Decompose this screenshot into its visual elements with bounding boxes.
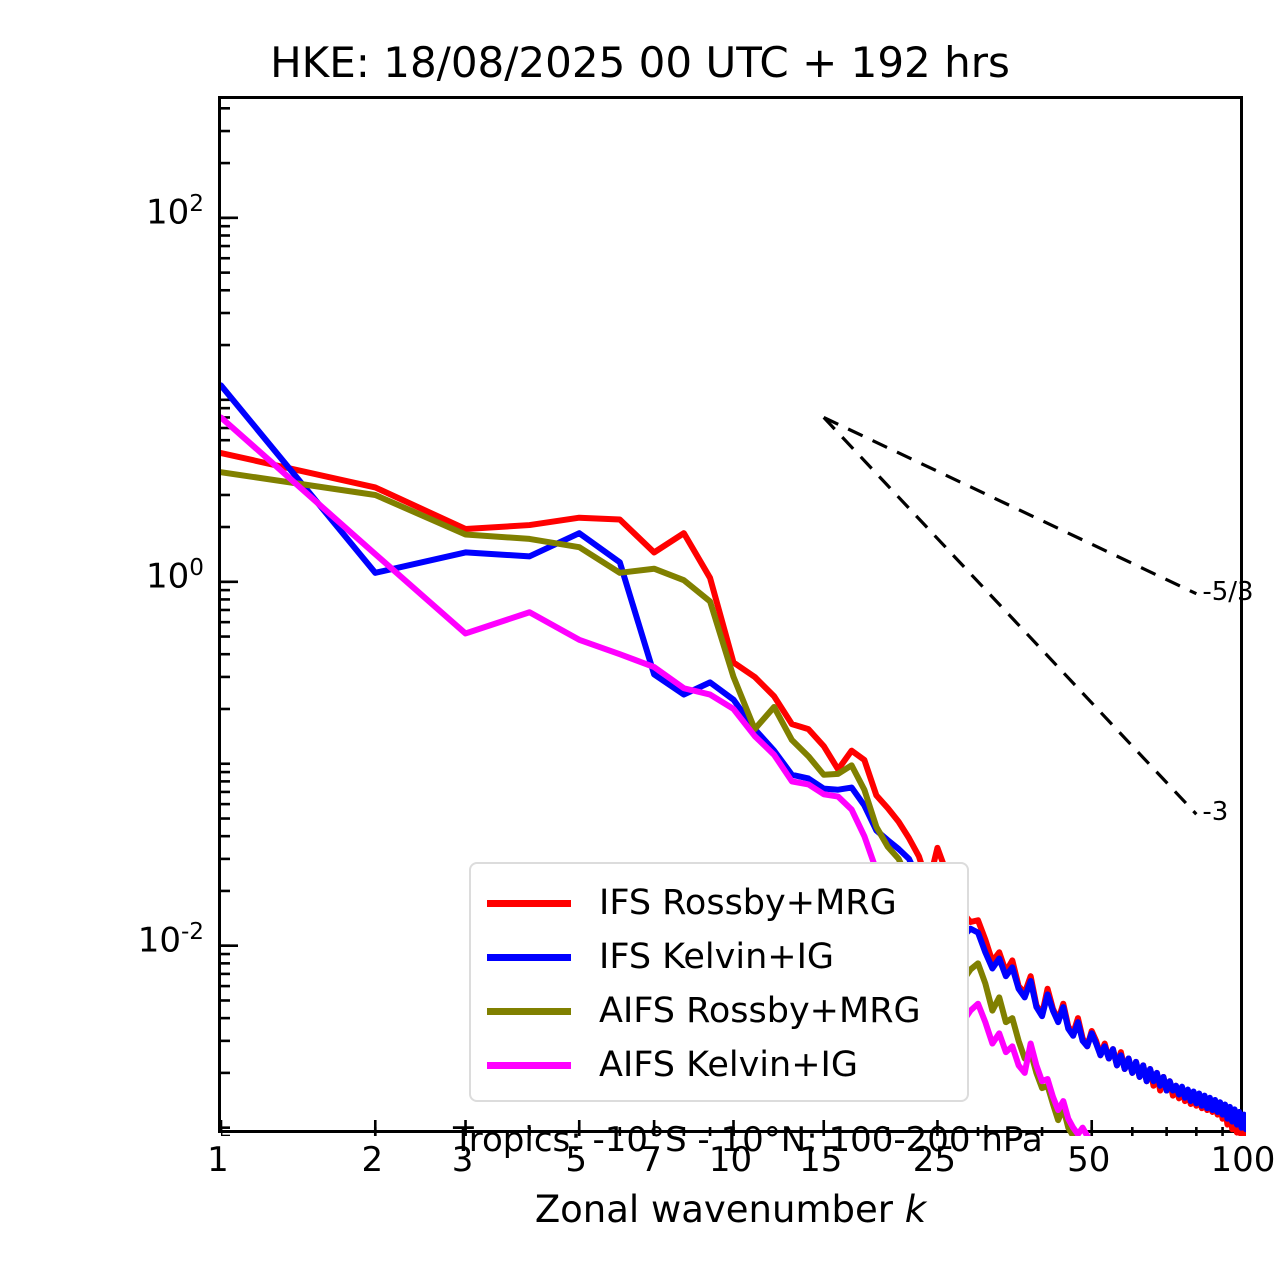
x-tick-label: 3 [452, 1140, 474, 1180]
legend-item-3[interactable]: AIFS Kelvin+IG [471, 1038, 967, 1092]
y-tick-label: 102 [146, 191, 204, 232]
legend-item-label: AIFS Rossby+MRG [599, 991, 921, 1031]
legend-color-swatch [487, 1062, 571, 1069]
x-tick-label: 5 [565, 1140, 587, 1180]
x-axis-tick-labels: 1235710152550100 [0, 1140, 1280, 1190]
plot-area: IFS Rossby+MRGIFS Kelvin+IGAIFS Rossby+M… [218, 96, 1243, 1133]
legend-item-1[interactable]: IFS Kelvin+IG [471, 930, 967, 984]
slope-line-0 [824, 417, 1197, 593]
legend-color-swatch [487, 954, 571, 961]
x-tick-label: 50 [1067, 1140, 1110, 1180]
x-axis-label-symbol: k [905, 1188, 926, 1231]
legend[interactable]: IFS Rossby+MRGIFS Kelvin+IGAIFS Rossby+M… [469, 862, 969, 1102]
legend-item-2[interactable]: AIFS Rossby+MRG [471, 984, 967, 1038]
x-axis-label: Zonal wavenumber k [218, 1188, 1243, 1231]
x-tick-label: 7 [640, 1140, 662, 1180]
y-tick-label: 10-2 [138, 919, 204, 960]
legend-color-swatch [487, 1008, 571, 1015]
x-tick-label: 15 [799, 1140, 842, 1180]
legend-item-0[interactable]: IFS Rossby+MRG [471, 876, 967, 930]
legend-color-swatch [487, 900, 571, 907]
x-tick-label: 2 [361, 1140, 383, 1180]
y-tick-label: 100 [146, 555, 204, 596]
legend-item-label: IFS Kelvin+IG [599, 937, 834, 977]
legend-item-label: AIFS Kelvin+IG [599, 1045, 858, 1085]
x-tick-label: 25 [913, 1140, 956, 1180]
x-tick-label: 10 [709, 1140, 752, 1180]
y-axis-tick-labels: 10210010-2 [0, 0, 204, 1288]
slope-line-1 [824, 417, 1197, 814]
x-tick-label: 1 [207, 1140, 229, 1180]
slope-label-0: -5/3 [1202, 577, 1253, 607]
legend-item-label: IFS Rossby+MRG [599, 883, 897, 923]
x-tick-label: 100 [1211, 1140, 1276, 1180]
x-axis-label-text: Zonal wavenumber [535, 1188, 905, 1231]
figure-canvas: HKE: 18/08/2025 00 UTC + 192 hrs 1021001… [0, 0, 1280, 1288]
slope-label-1: -3 [1202, 797, 1228, 827]
reference-slope-lines [824, 417, 1197, 814]
